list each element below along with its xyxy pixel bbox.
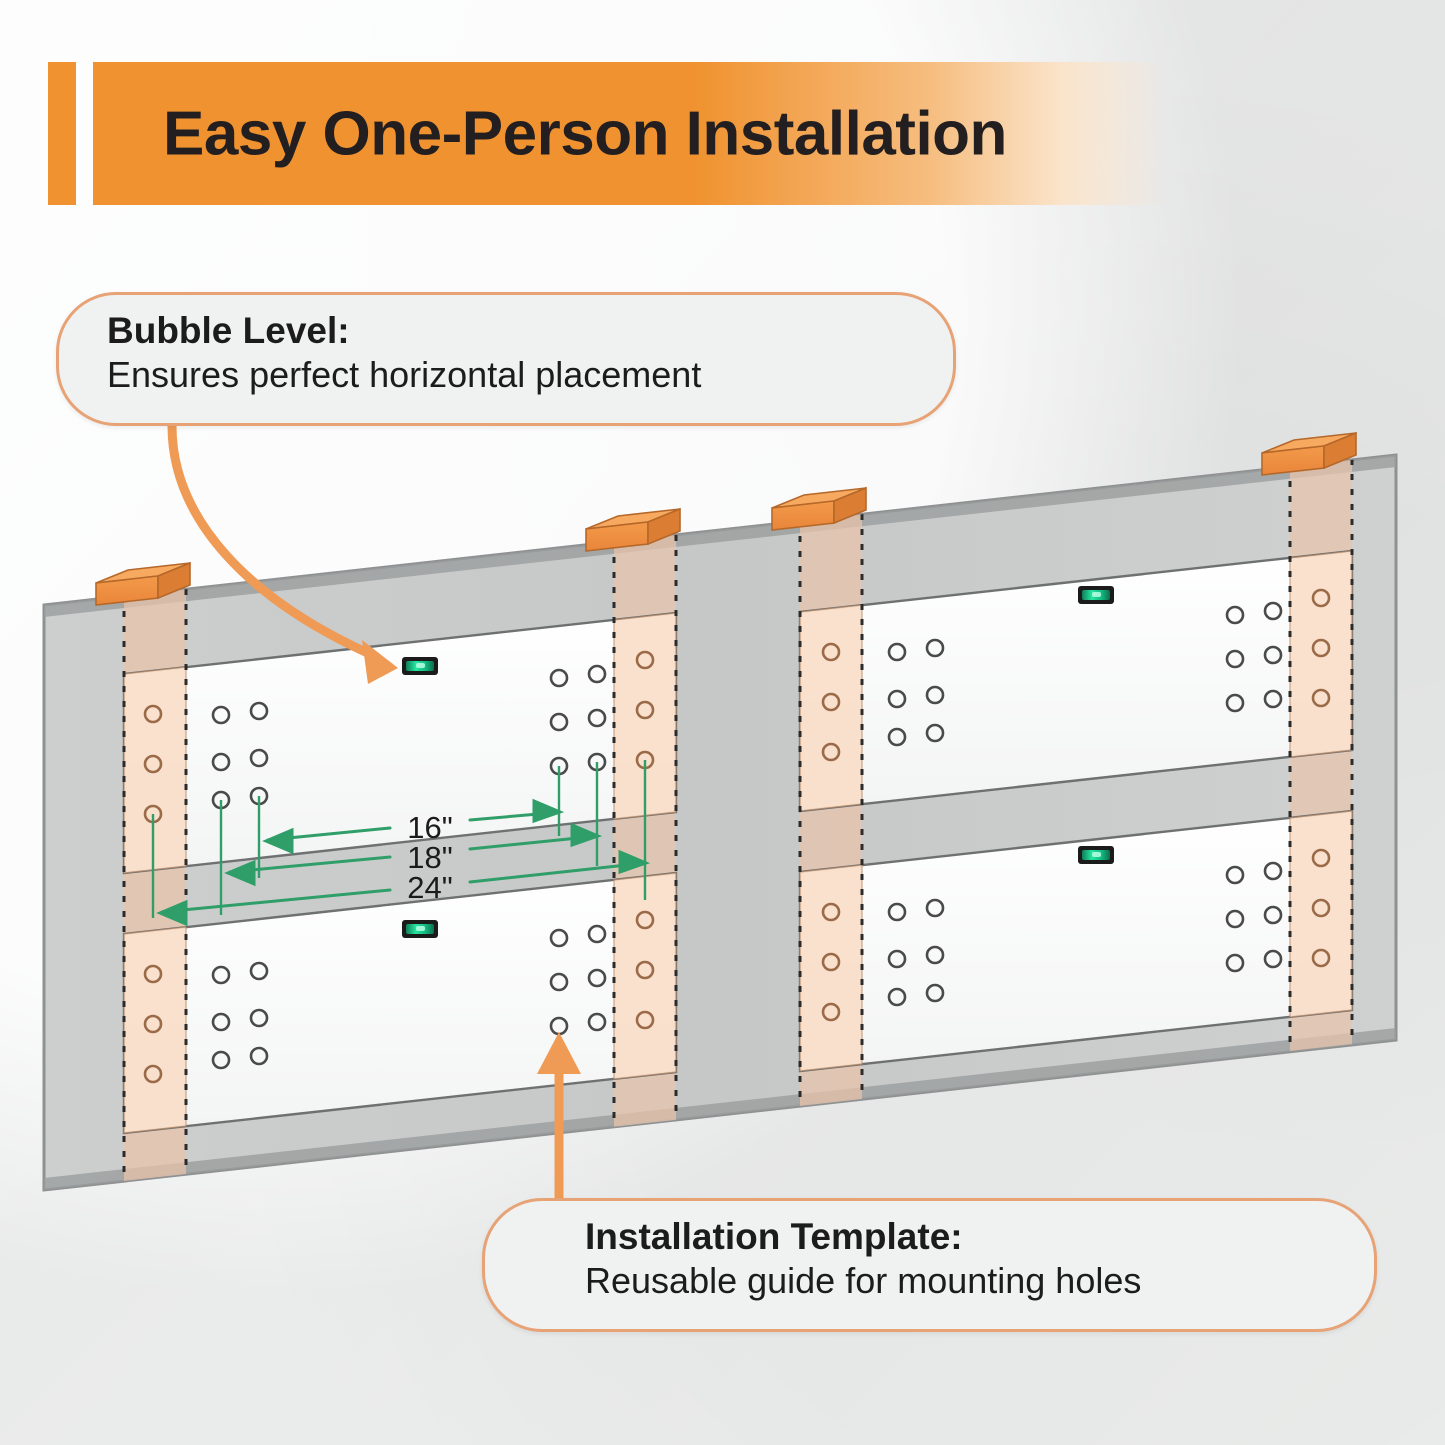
bubble-level-icon: [1078, 586, 1114, 604]
callout-bubble-level-subtitle: Ensures perfect horizontal placement: [107, 353, 919, 396]
dimension-labels: 16" 18" 24": [407, 810, 453, 905]
dimension-label-24: 24": [407, 870, 453, 905]
callout-installation-template-subtitle: Reusable guide for mounting holes: [585, 1259, 1340, 1302]
callout-installation-template-title: Installation Template:: [585, 1215, 1340, 1259]
bubble-level-icon: [402, 920, 438, 938]
callout-bubble-level: Bubble Level: Ensures perfect horizontal…: [56, 292, 956, 426]
callout-installation-template: Installation Template: Reusable guide fo…: [482, 1198, 1377, 1332]
header-banner: Easy One-Person Installation: [48, 62, 1166, 205]
bubble-level-icon: [1078, 846, 1114, 864]
infographic-stage: 16" 18" 24" Easy One-Person Installation…: [0, 0, 1445, 1445]
page-title: Easy One-Person Installation: [163, 98, 1007, 169]
header-accent-tab: [48, 62, 76, 205]
callout-bubble-level-title: Bubble Level:: [107, 309, 919, 353]
bubble-level-icon: [402, 657, 438, 675]
